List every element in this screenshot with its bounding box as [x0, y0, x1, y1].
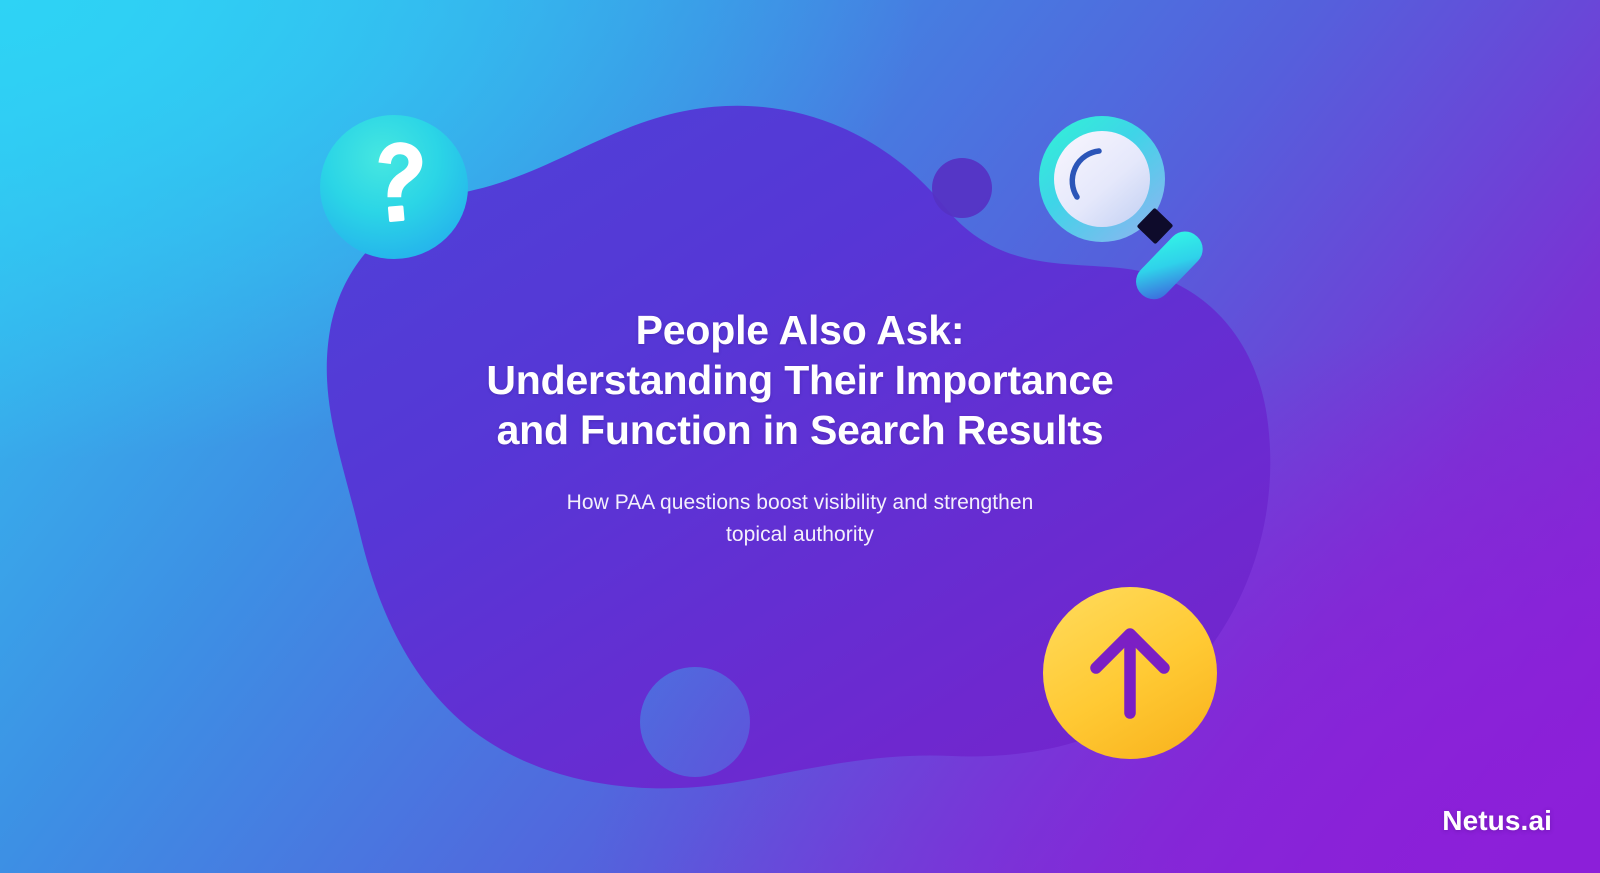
page-title: People Also Ask: Understanding Their Imp… [400, 305, 1200, 455]
question-mark-badge [318, 112, 470, 262]
subtitle-line-2: topical authority [400, 519, 1200, 551]
small-purple-circle [932, 158, 992, 218]
magnifier-lens [1054, 131, 1150, 227]
headline-block: People Also Ask: Understanding Their Imp… [400, 305, 1200, 550]
brand-logo[interactable]: Netus.ai [1442, 805, 1552, 837]
title-line-3: and Function in Search Results [400, 405, 1200, 455]
banner: People Also Ask: Understanding Their Imp… [0, 0, 1600, 873]
title-line-2: Understanding Their Importance [400, 355, 1200, 405]
subtitle-line-1: How PAA questions boost visibility and s… [400, 487, 1200, 519]
magnifier-handle [1129, 224, 1210, 305]
up-arrow-badge [1041, 585, 1219, 761]
title-line-1: People Also Ask: [400, 305, 1200, 355]
page-subtitle: How PAA questions boost visibility and s… [400, 487, 1200, 550]
magnifying-glass-icon [1020, 105, 1225, 305]
